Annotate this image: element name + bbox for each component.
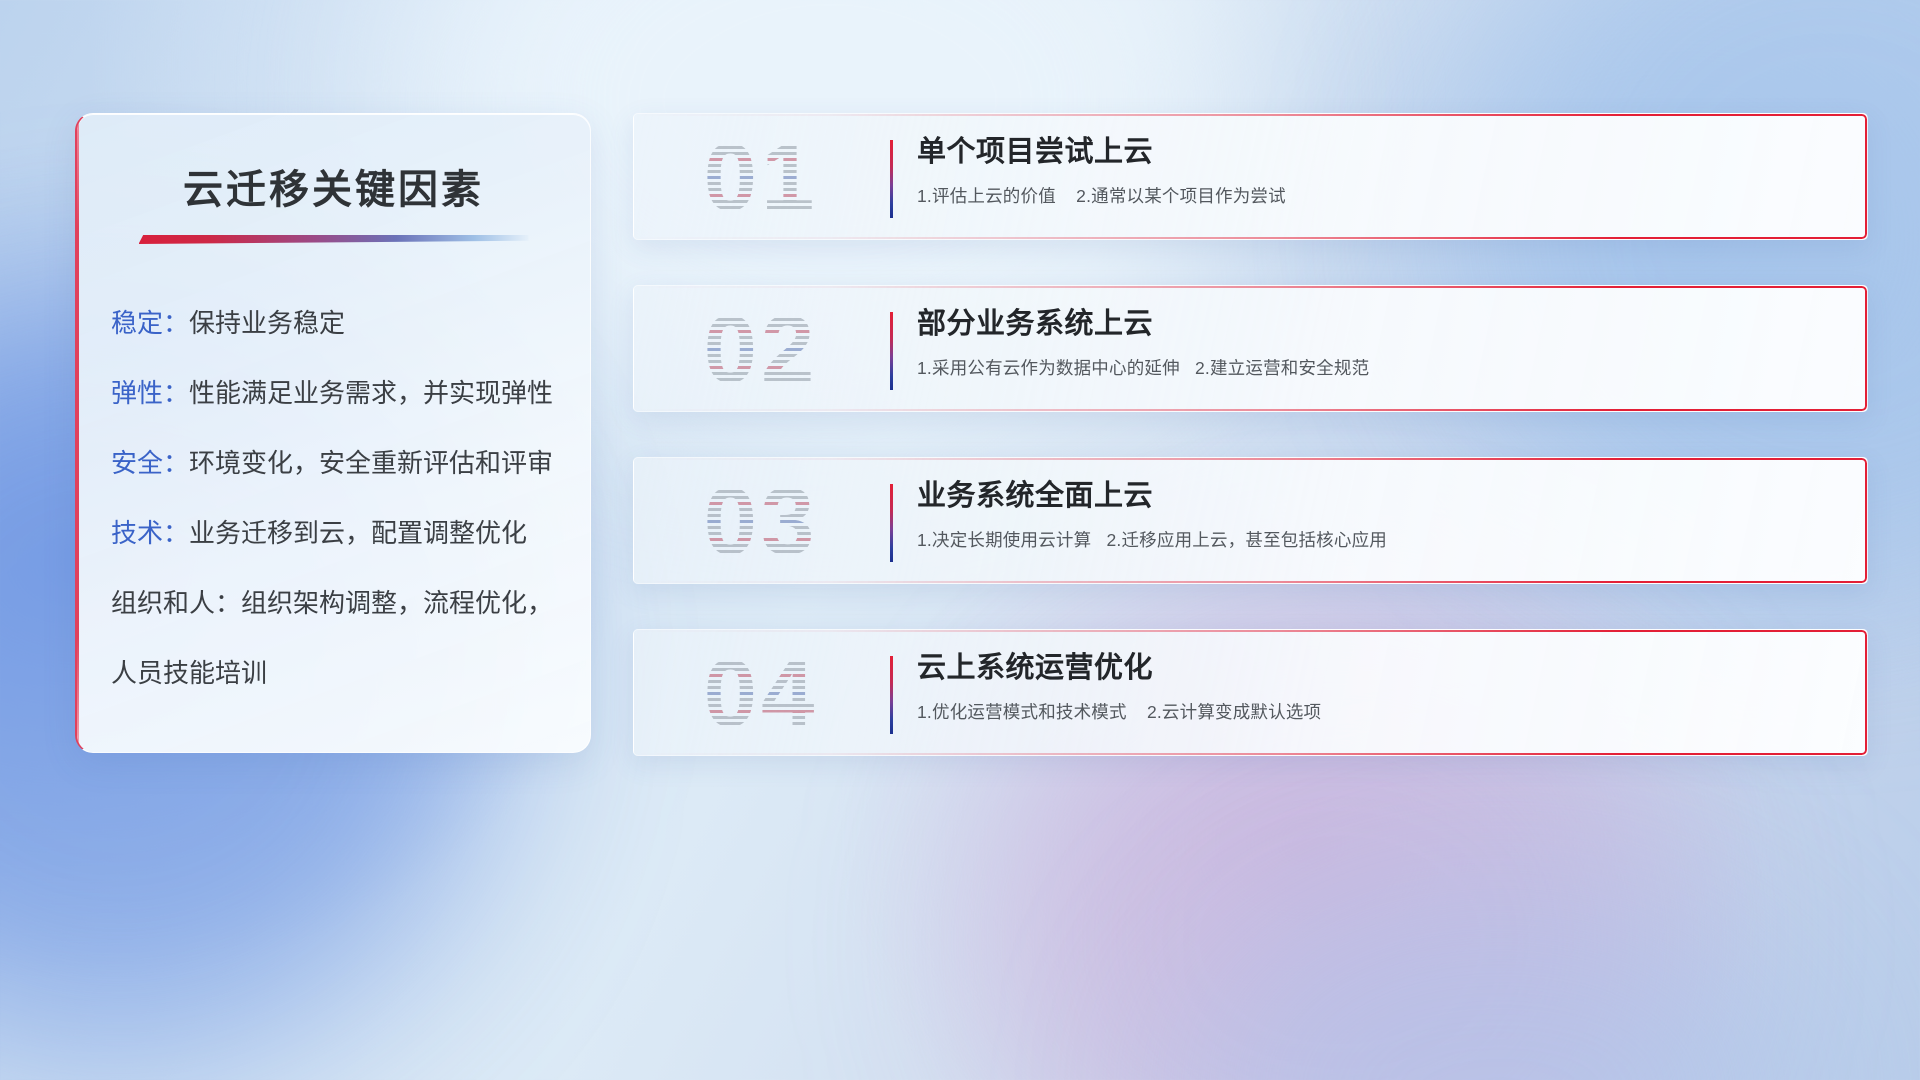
title-underline-rule xyxy=(139,235,529,244)
factor-text: 保持业务稳定 xyxy=(189,308,345,338)
key-factors-list: 稳定：保持业务稳定 弹性：性能满足业务需求，并实现弹性 安全：环境变化，安全重新… xyxy=(111,310,581,686)
stage-number-01: 01 01 xyxy=(656,122,866,234)
stage-number-tint: 02 xyxy=(656,294,866,406)
list-item: 稳定：保持业务稳定 xyxy=(111,310,581,336)
card-title: 部分业务系统上云 xyxy=(917,306,1847,342)
factor-label: 安全： xyxy=(111,448,189,478)
stage-number-04: 04 04 xyxy=(656,638,866,750)
factor-label: 稳定： xyxy=(111,308,189,338)
stage-card-02[interactable]: 02 02 部分业务系统上云 1.采用公有云作为数据中心的延伸 2.建立运营和安… xyxy=(633,285,1868,412)
stage-number-tint: 04 xyxy=(656,638,866,750)
stage-card-03[interactable]: 03 03 业务系统全面上云 1.决定长期使用云计算 2.迁移应用上云，甚至包括… xyxy=(633,457,1868,584)
factor-label: 技术： xyxy=(111,518,189,548)
stage-card-list: 01 01 单个项目尝试上云 1.评估上云的价值 2.通常以某个项目作为尝试 0… xyxy=(633,113,1868,756)
list-item: 技术：业务迁移到云，配置调整优化 xyxy=(111,520,581,546)
card-title: 单个项目尝试上云 xyxy=(917,134,1847,170)
factor-label: 组织和人： xyxy=(111,588,241,618)
card-subtitle: 1.优化运营模式和技术模式 2.云计算变成默认选项 xyxy=(917,699,1847,724)
stage-number-03: 03 03 xyxy=(656,466,866,578)
slide-canvas: 云迁移关键因素 稳定：保持业务稳定 弹性：性能满足业务需求，并实现弹性 安全：环… xyxy=(0,0,1920,1080)
list-item: 组织和人：组织架构调整，流程优化， xyxy=(111,590,581,616)
stage-number-tint: 03 xyxy=(656,466,866,578)
factor-text: 业务迁移到云，配置调整优化 xyxy=(189,518,527,548)
stage-number-02: 02 02 xyxy=(656,294,866,406)
card-accent-bar xyxy=(890,140,893,218)
card-accent-bar xyxy=(890,484,893,562)
factor-text: 人员技能培训 xyxy=(111,658,267,688)
card-subtitle: 1.评估上云的价值 2.通常以某个项目作为尝试 xyxy=(917,183,1847,208)
factor-text: 环境变化，安全重新评估和评审 xyxy=(189,448,553,478)
card-subtitle: 1.采用公有云作为数据中心的延伸 2.建立运营和安全规范 xyxy=(917,355,1847,380)
card-body: 单个项目尝试上云 1.评估上云的价值 2.通常以某个项目作为尝试 xyxy=(917,134,1847,208)
card-body: 云上系统运营优化 1.优化运营模式和技术模式 2.云计算变成默认选项 xyxy=(917,650,1847,724)
stage-card-04[interactable]: 04 04 云上系统运营优化 1.优化运营模式和技术模式 2.云计算变成默认选项 xyxy=(633,629,1868,756)
factor-label: 弹性： xyxy=(111,378,189,408)
list-item: 安全：环境变化，安全重新评估和评审 xyxy=(111,450,581,476)
card-accent-bar xyxy=(890,656,893,734)
card-body: 业务系统全面上云 1.决定长期使用云计算 2.迁移应用上云，甚至包括核心应用 xyxy=(917,478,1847,552)
card-body: 部分业务系统上云 1.采用公有云作为数据中心的延伸 2.建立运营和安全规范 xyxy=(917,306,1847,380)
card-accent-bar xyxy=(890,312,893,390)
factor-text: 组织架构调整，流程优化， xyxy=(241,588,553,618)
factor-text: 性能满足业务需求，并实现弹性 xyxy=(189,378,553,408)
page-title: 云迁移关键因素 xyxy=(77,157,590,215)
list-item: 弹性：性能满足业务需求，并实现弹性 xyxy=(111,380,581,406)
stage-card-01[interactable]: 01 01 单个项目尝试上云 1.评估上云的价值 2.通常以某个项目作为尝试 xyxy=(633,113,1868,240)
stage-number-tint: 01 xyxy=(656,122,866,234)
list-item: 人员技能培训 xyxy=(111,660,581,686)
card-title: 云上系统运营优化 xyxy=(917,650,1847,686)
stage-number-base: 03 xyxy=(704,467,819,577)
stage-number-base: 01 xyxy=(704,123,819,233)
card-title: 业务系统全面上云 xyxy=(917,478,1847,514)
key-factors-panel: 云迁移关键因素 稳定：保持业务稳定 弹性：性能满足业务需求，并实现弹性 安全：环… xyxy=(75,113,591,753)
stage-number-base: 04 xyxy=(704,639,819,749)
card-subtitle: 1.决定长期使用云计算 2.迁移应用上云，甚至包括核心应用 xyxy=(917,527,1847,552)
stage-number-base: 02 xyxy=(704,295,819,405)
